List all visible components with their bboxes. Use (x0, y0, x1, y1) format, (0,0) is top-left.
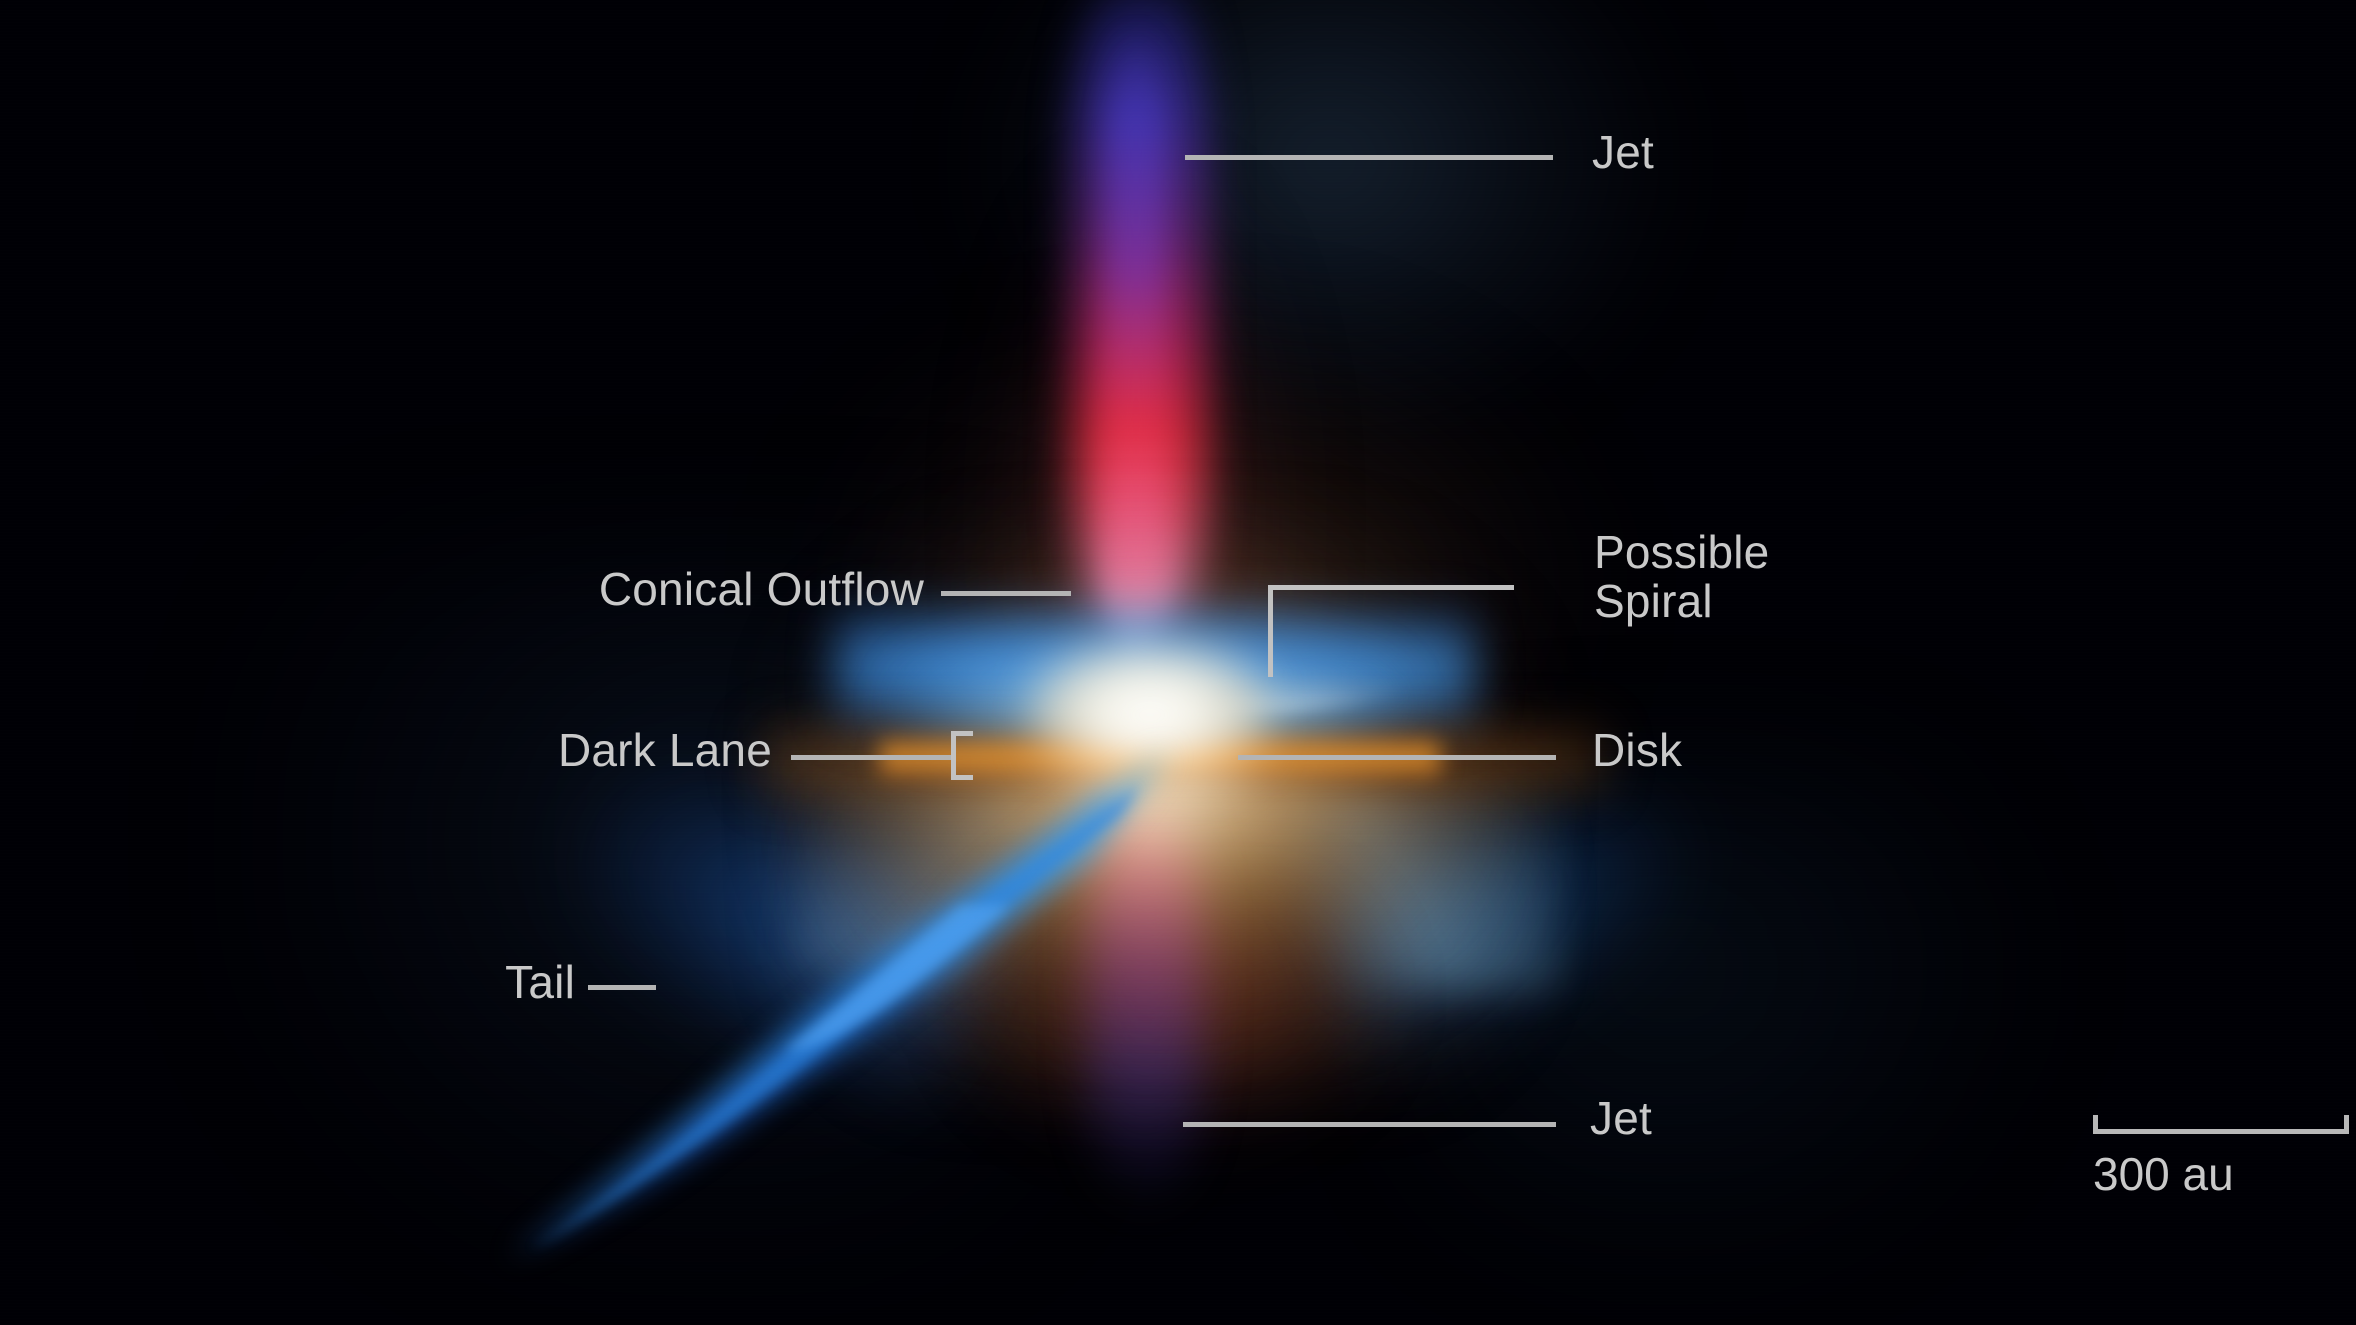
label-tail: Tail (505, 958, 575, 1007)
bracket-possible-spiral (1268, 585, 1514, 677)
scale-bar-label: 300 au (2093, 1147, 2234, 1201)
leader-line-disk (1238, 755, 1556, 760)
astro-image-canvas (0, 0, 2356, 1325)
bracket-dark-lane (951, 731, 973, 780)
leader-line-jet-top (1185, 155, 1553, 160)
leader-line-dark-lane (791, 755, 953, 760)
label-disk: Disk (1592, 726, 1682, 775)
label-dark-lane: Dark Lane (558, 726, 772, 775)
annotated-astronomy-image: Jet Possible Spiral Disk Jet Conical Out… (0, 0, 2356, 1325)
image-grain-overlay (0, 0, 2356, 1325)
leader-line-conical-outflow (941, 591, 1071, 596)
label-conical-outflow: Conical Outflow (599, 565, 924, 614)
leader-line-tail (588, 985, 656, 990)
leader-line-jet-bottom (1183, 1122, 1556, 1127)
label-possible-spiral: Possible Spiral (1594, 528, 1769, 626)
scale-bar-line (2093, 1129, 2349, 1134)
label-jet-bottom: Jet (1590, 1094, 1652, 1143)
scale-bar-tick-right (2344, 1115, 2349, 1134)
label-jet-top: Jet (1592, 128, 1654, 177)
scale-bar-tick-left (2093, 1115, 2098, 1134)
